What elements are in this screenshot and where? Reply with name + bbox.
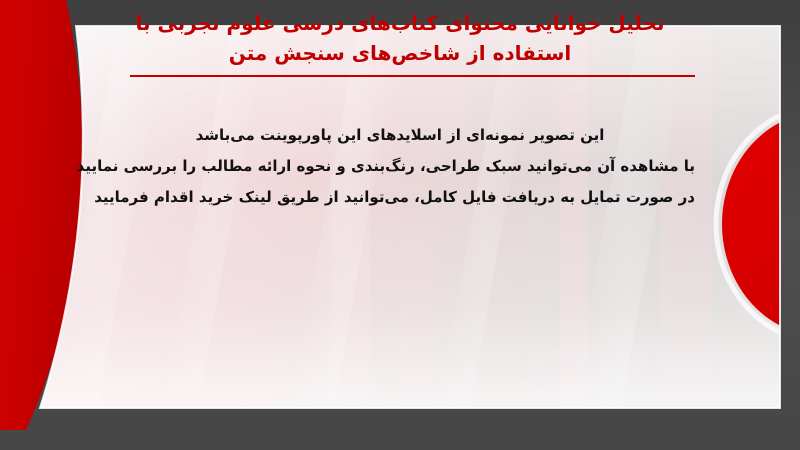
slide-title: تحلیل خوانایی محتوای کتاب‌های درسی علوم … [0,8,800,68]
title-line-1: تحلیل خوانایی محتوای کتاب‌های درسی علوم … [110,8,690,38]
slide-canvas: تحلیل خوانایی محتوای کتاب‌های درسی علوم … [0,0,800,450]
title-underline [130,75,695,77]
body-line-2: با مشاهده آن می‌توانید سبک طراحی، رنگ‌بن… [105,151,695,182]
title-line-2: استفاده از شاخص‌های سنجش متن [110,38,690,68]
slide-body: این تصویر نمونه‌ای از اسلایدهای این پاور… [0,120,800,213]
body-line-3: در صورت تمایل به دریافت فایل کامل، می‌تو… [105,182,695,213]
body-line-1: این تصویر نمونه‌ای از اسلایدهای این پاور… [105,120,695,151]
